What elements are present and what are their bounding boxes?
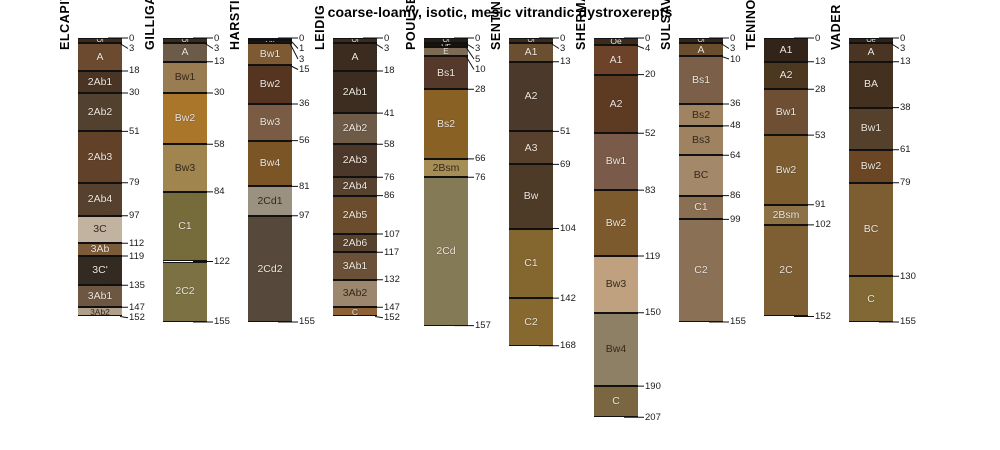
- depth-tick-label: 0: [815, 34, 820, 44]
- depth-tick-label: 155: [900, 317, 916, 327]
- depth-tick-label: 157: [475, 321, 491, 331]
- depth-tick-label: 3: [560, 44, 565, 54]
- depth-tick-label: 0: [384, 34, 389, 44]
- depth-tick-label: 81: [299, 182, 310, 192]
- depth-tick-label: 117: [384, 248, 399, 258]
- depth-tick-label: 79: [900, 178, 911, 188]
- depth-tick-label: 152: [384, 313, 400, 323]
- depth-tick-label: 66: [475, 154, 486, 164]
- depth-tick-label: 30: [214, 88, 225, 98]
- depth-tick-label: 64: [730, 151, 741, 161]
- depth-tick-label: 0: [214, 34, 219, 44]
- depth-tick-label: 3: [900, 44, 905, 54]
- depth-tick-label: 28: [475, 85, 486, 95]
- depth-tick-label: 56: [299, 136, 310, 146]
- depth-tick-label: 76: [475, 173, 486, 183]
- depth-tick-label: 152: [815, 312, 831, 322]
- depth-tick-label: 99: [730, 215, 741, 225]
- depth-tick-label: 10: [730, 55, 741, 65]
- depth-tick-label: 1: [299, 44, 304, 54]
- depth-tick-label: 41: [384, 109, 395, 119]
- depth-tick-label: 28: [815, 85, 826, 95]
- depth-tick-label: 0: [129, 34, 134, 44]
- depth-tick-label: 5: [475, 55, 480, 65]
- depth-tick-label: 168: [560, 341, 576, 351]
- depth-tick-label: 122: [214, 257, 230, 267]
- depth-tick-label: 190: [645, 382, 661, 392]
- depth-tick-label: 13: [815, 57, 826, 67]
- depth-tick-label: 3: [214, 44, 219, 54]
- depth-tick-label: 102: [815, 220, 831, 230]
- profile-name-label: VADER: [829, 4, 843, 50]
- depth-tick-label: 112: [129, 239, 144, 249]
- depth-tick-label: 18: [129, 66, 140, 76]
- depth-tick-label: 135: [129, 281, 145, 291]
- depth-tick-label: 15: [299, 65, 310, 75]
- depth-tick-label: 36: [299, 99, 310, 109]
- depth-tick-label: 3: [129, 44, 134, 54]
- depth-tick-label: 3: [384, 44, 389, 54]
- depth-tick-label: 36: [730, 99, 741, 109]
- depth-tick-label: 97: [299, 211, 310, 221]
- depth-tick-label: 86: [384, 191, 395, 201]
- profile-name-label: ELCAPITAN: [58, 0, 72, 50]
- depth-tick-label: 3: [299, 55, 304, 65]
- depth-tick-label: 58: [384, 140, 395, 150]
- depth-tick-label: 0: [299, 34, 304, 44]
- soil-profile-figure: coarse-loamy, isotic, mesic vitrandic dy…: [0, 0, 1000, 450]
- depth-tick-label: 13: [560, 57, 571, 67]
- depth-tick-label: 3: [475, 44, 480, 54]
- depth-leader-lines: [849, 0, 953, 450]
- depth-tick-label: 207: [645, 413, 661, 423]
- depth-tick-label: 155: [730, 317, 746, 327]
- depth-tick-label: 83: [645, 186, 656, 196]
- depth-tick-label: 51: [560, 127, 571, 137]
- depth-tick-label: 51: [129, 127, 140, 137]
- depth-tick-label: 10: [475, 65, 486, 75]
- profile-name-label: SENTINEL: [489, 0, 503, 50]
- depth-tick-label: 132: [384, 275, 400, 285]
- profile-name-label: SHERMAN: [574, 0, 588, 50]
- depth-tick-label: 0: [560, 34, 565, 44]
- depth-tick-label: 147: [129, 303, 145, 313]
- depth-tick-label: 155: [214, 317, 230, 327]
- profile-name-label: LEIDIG: [313, 5, 327, 50]
- depth-tick-label: 38: [900, 103, 911, 113]
- depth-tick-label: 58: [214, 140, 225, 150]
- depth-tick-label: 0: [730, 34, 735, 44]
- depth-tick-label: 53: [815, 131, 826, 141]
- profile-name-label: TENINO: [744, 0, 758, 50]
- depth-tick-label: 104: [560, 224, 576, 234]
- depth-tick-label: 147: [384, 303, 400, 313]
- depth-tick-label: 18: [384, 66, 395, 76]
- depth-tick-label: 152: [129, 313, 145, 323]
- depth-tick-label: 130: [900, 272, 916, 282]
- profile-name-label: HARSTINE: [228, 0, 242, 50]
- depth-tick-label: 3: [730, 44, 735, 54]
- depth-tick-label: 119: [645, 252, 660, 262]
- depth-tick-label: 119: [129, 252, 144, 262]
- depth-tick-label: 0: [645, 34, 650, 44]
- depth-tick-label: 20: [645, 70, 656, 80]
- depth-tick-label: 69: [560, 160, 571, 170]
- depth-tick-label: 30: [129, 88, 140, 98]
- depth-tick-label: 0: [475, 34, 480, 44]
- profile-name-label: SULSAVAR: [659, 0, 673, 50]
- depth-tick-label: 142: [560, 294, 576, 304]
- depth-tick-label: 76: [384, 173, 395, 183]
- depth-tick-label: 4: [645, 44, 650, 54]
- depth-tick-label: 155: [299, 317, 315, 327]
- depth-tick-label: 61: [900, 145, 911, 155]
- depth-tick-label: 91: [815, 200, 826, 210]
- depth-tick-label: 97: [129, 211, 140, 221]
- depth-tick-label: 13: [214, 57, 225, 67]
- depth-tick-label: 48: [730, 121, 741, 131]
- profile-name-label: POULSBO: [404, 0, 418, 50]
- depth-tick-label: 0: [900, 34, 905, 44]
- depth-tick-label: 150: [645, 308, 661, 318]
- depth-tick-label: 13: [900, 57, 911, 67]
- depth-tick-label: 79: [129, 178, 140, 188]
- profile-name-label: GILLIGAN: [143, 0, 157, 50]
- depth-tick-label: 84: [214, 187, 225, 197]
- depth-tick-label: 52: [645, 129, 656, 139]
- depth-tick-label: 86: [730, 191, 741, 201]
- depth-tick-label: 107: [384, 230, 400, 240]
